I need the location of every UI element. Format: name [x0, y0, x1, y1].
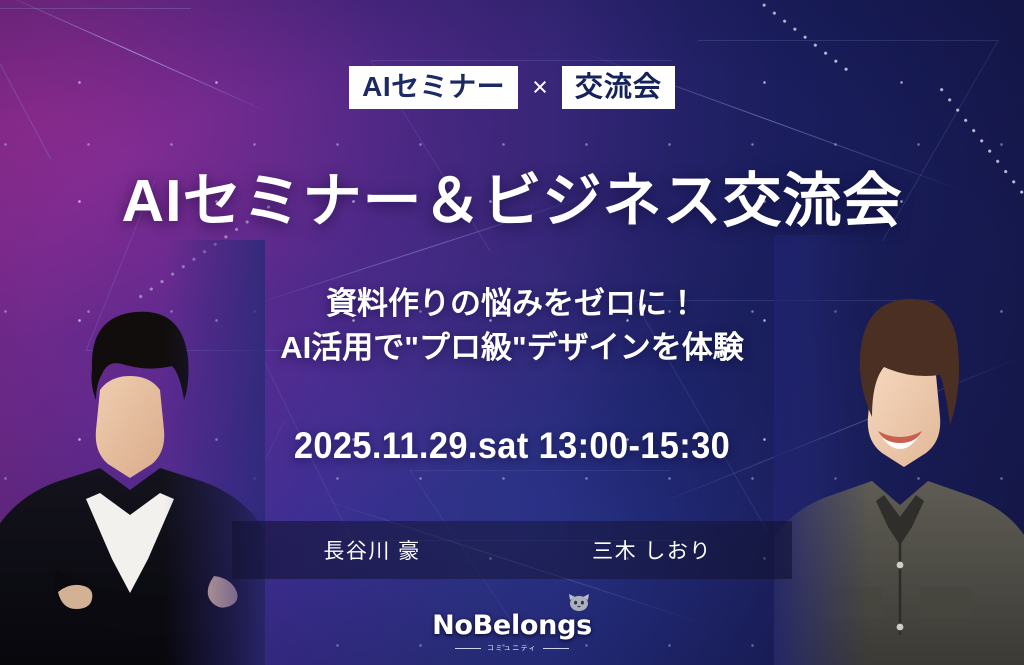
decor-dot-line [717, 0, 853, 75]
logo-mark: NoBelongs [432, 610, 592, 641]
logo-wordmark: NoBelongs [432, 610, 592, 641]
event-banner: AIセミナー × 交流会 AIセミナー＆ビジネス交流会 資料作りの悩みをゼロに！… [0, 0, 1024, 665]
speaker-name-left: 長谷川 豪 [232, 535, 512, 565]
speaker-name-right: 三木 しおり [512, 535, 792, 565]
event-datetime: 2025.11.29.sat 13:00-15:30 [36, 425, 988, 467]
logo-tagline-row: コミュニティ [455, 643, 569, 653]
event-subtitle: 資料作りの悩みをゼロに！ AI活用で"プロ級"デザインを体験 [0, 282, 1024, 370]
badge-networking: 交流会 [562, 66, 675, 109]
brand-logo: NoBelongs コミュニティ [0, 610, 1024, 653]
subtitle-line-2: AI活用で"プロ級"デザインを体験 [0, 326, 1024, 370]
speaker-name-band: 長谷川 豪 三木 しおり [232, 521, 792, 579]
event-title: AIセミナー＆ビジネス交流会 [0, 168, 1024, 234]
logo-tagline: コミュニティ [487, 643, 537, 653]
logo-rule-left [455, 648, 481, 649]
badge-row: AIセミナー × 交流会 [0, 66, 1024, 109]
logo-rule-right [543, 648, 569, 649]
subtitle-line-1: 資料作りの悩みをゼロに！ [0, 282, 1024, 326]
cross-icon: × [532, 74, 548, 101]
badge-ai-seminar: AIセミナー [349, 66, 518, 109]
cat-head-icon [568, 593, 590, 612]
